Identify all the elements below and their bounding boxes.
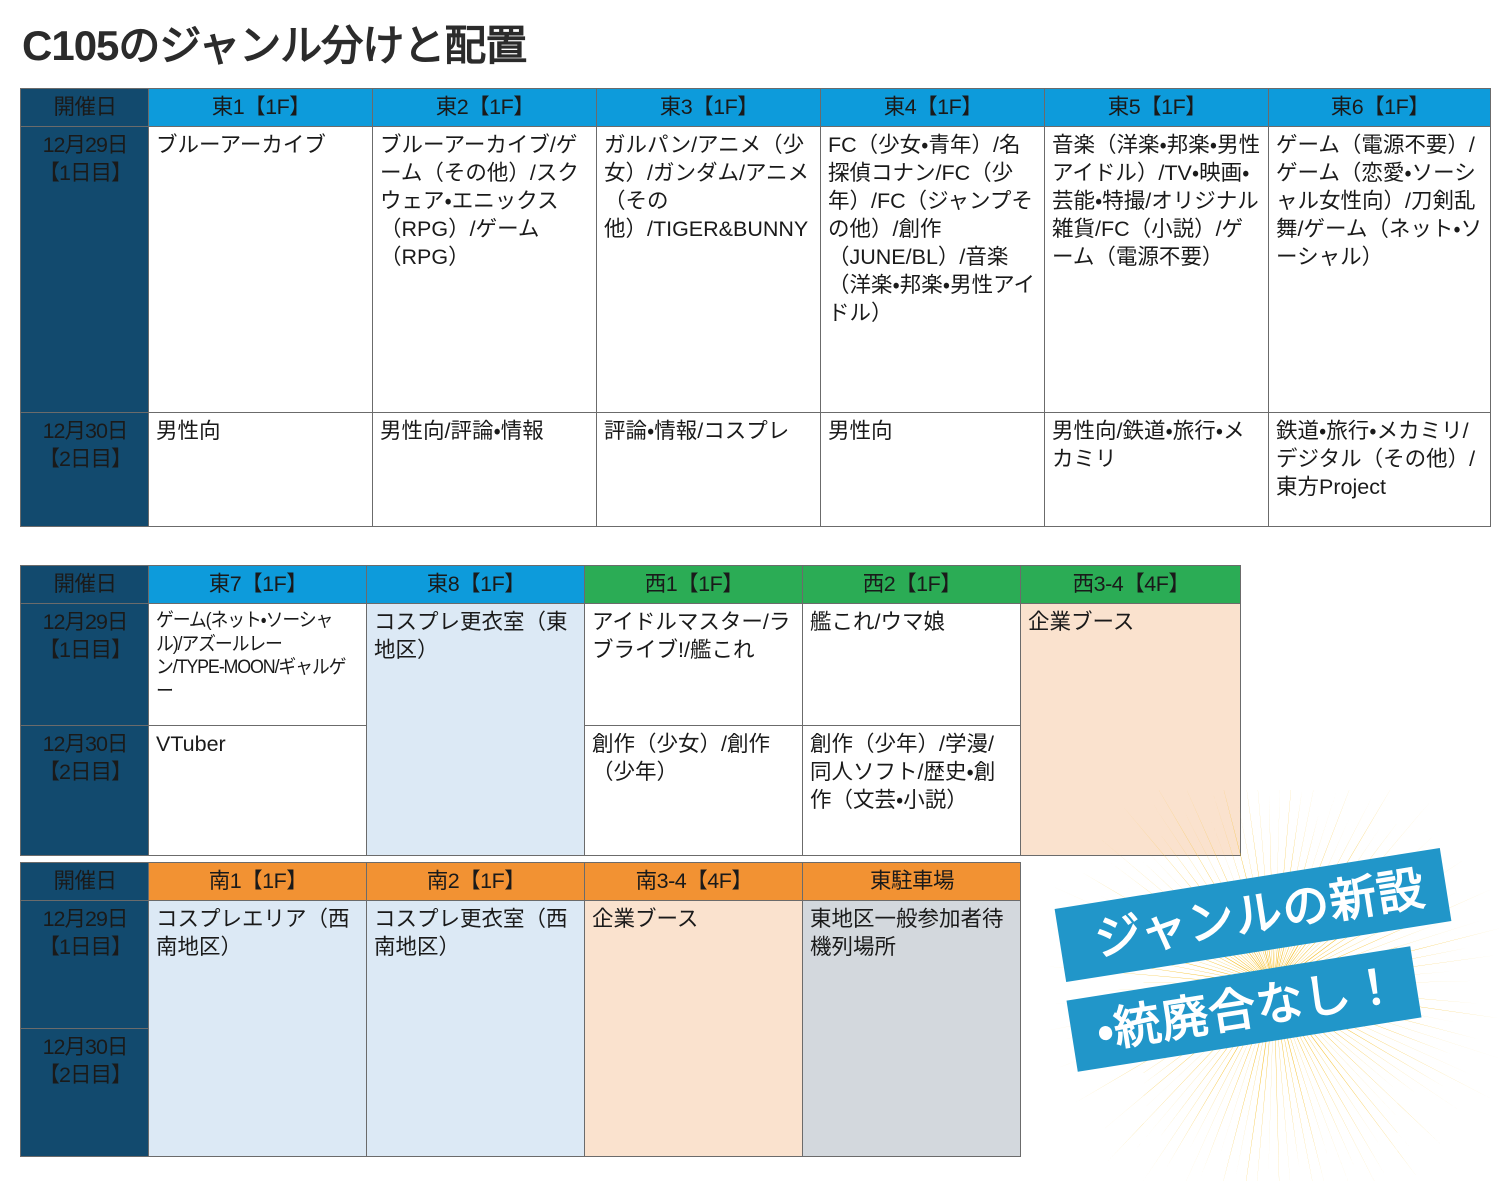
cell-east1-day2: 男性向 [149,413,373,527]
header-east-5: 東5【1F】 [1045,89,1269,127]
cell-west34-booth: 企業ブース [1021,604,1241,856]
date-line-1: 12月29日 [28,609,142,637]
cell-east7-day1-text: ゲーム(ネット・ソーシャル)/アズールレーン/TYPE-MOON/ギャルゲー [156,609,348,703]
table-east-1-6: 開催日 東1【1F】 東2【1F】 東3【1F】 東4【1F】 東5【1F】 東… [20,88,1491,527]
header-east-parking: 東駐車場 [803,863,1021,901]
cell-east4-day2: 男性向 [821,413,1045,527]
badge-line-1: ジャンルの新設 [1055,848,1452,982]
date-cell-day1: 12月29日 【1日目】 [21,127,149,413]
header-east-3: 東3【1F】 [597,89,821,127]
table-header-row: 開催日 東7【1F】 東8【1F】 西1【1F】 西2【1F】 西3-4【4F】 [21,566,1241,604]
header-west-3-4: 西3-4【4F】 [1021,566,1241,604]
cell-south1-cosplay-area: コスプレエリア（西南地区） [149,901,367,1157]
cell-west2-day1: 艦これ/ウマ娘 [803,604,1021,726]
cell-west1-day2: 創作（少女）/創作（少年） [585,726,803,856]
table-row: 12月29日 【1日目】 コスプレエリア（西南地区） コスプレ更衣室（西南地区）… [21,901,1021,1029]
header-east-6: 東6【1F】 [1269,89,1491,127]
table-east7-west: 開催日 東7【1F】 東8【1F】 西1【1F】 西2【1F】 西3-4【4F】… [20,565,1241,856]
cell-west2-day2: 創作（少年）/学漫/同人ソフト/歴史・創作（文芸・小説） [803,726,1021,856]
header-south-2: 南2【1F】 [367,863,585,901]
header-east-8: 東8【1F】 [367,566,585,604]
infographic-page: C105のジャンル分けと配置 開催日 東1【1F】 東2【1F】 東3【1F】 … [0,0,1500,1181]
header-south-3-4: 南3-4【4F】 [585,863,803,901]
date-line-2: 【1日目】 [28,934,142,962]
table-row: 12月29日 【1日目】 ゲーム(ネット・ソーシャル)/アズールレーン/TYPE… [21,604,1241,726]
date-line-2: 【1日目】 [28,637,142,665]
table-header-row: 開催日 東1【1F】 東2【1F】 東3【1F】 東4【1F】 東5【1F】 東… [21,89,1491,127]
cell-east3-day1: ガルパン/アニメ（少女）/ガンダム/アニメ（その他）/TIGER&BUNNY [597,127,821,413]
date-line-2: 【1日目】 [28,160,142,188]
date-line-1: 12月29日 [28,906,142,934]
cell-east7-day2: VTuber [149,726,367,856]
cell-east6-day2: 鉄道・旅行・メカミリ/デジタル（その他）/東方Project [1269,413,1491,527]
cell-east3-day2: 評論・情報/コスプレ [597,413,821,527]
cell-east5-day1: 音楽（洋楽・邦楽・男性アイドル）/TV・映画・芸能・特撮/オリジナル雑貨/FC（… [1045,127,1269,413]
header-east-7: 東7【1F】 [149,566,367,604]
cell-east6-day1: ゲーム（電源不要）/ゲーム（恋愛・ソーシャル女性向）/刀剣乱舞/ゲーム（ネット・… [1269,127,1491,413]
date-cell-day2: 12月30日 【2日目】 [21,413,149,527]
header-west-1: 西1【1F】 [585,566,803,604]
table-row: 12月29日 【1日目】 ブルーアーカイブ ブルーアーカイブ/ゲーム（その他）/… [21,127,1491,413]
header-date: 開催日 [21,89,149,127]
header-east-4: 東4【1F】 [821,89,1045,127]
cell-east5-day2: 男性向/鉄道・旅行・メカミリ [1045,413,1269,527]
cell-east1-day1: ブルーアーカイブ [149,127,373,413]
cell-south2-cosplay-room: コスプレ更衣室（西南地区） [367,901,585,1157]
date-line-2: 【2日目】 [28,446,142,474]
cell-east2-day2: 男性向/評論・情報 [373,413,597,527]
header-east-1: 東1【1F】 [149,89,373,127]
cell-east8-cosplay: コスプレ更衣室（東地区） [367,604,585,856]
date-line-1: 12月30日 [28,731,142,759]
cell-west1-day1: アイドルマスター/ラブライブ!/艦これ [585,604,803,726]
header-date: 開催日 [21,566,149,604]
date-line-2: 【2日目】 [28,1062,142,1090]
date-cell-day1: 12月29日 【1日目】 [21,901,149,1029]
cell-east7-day1: ゲーム(ネット・ソーシャル)/アズールレーン/TYPE-MOON/ギャルゲー [149,604,367,726]
date-line-1: 12月30日 [28,1034,142,1062]
date-line-2: 【2日目】 [28,759,142,787]
date-cell-day1: 12月29日 【1日目】 [21,604,149,726]
date-line-1: 12月30日 [28,418,142,446]
badge-line-2: ・統廃合なし！ [1067,946,1422,1072]
cell-south34-booth: 企業ブース [585,901,803,1157]
header-south-1: 南1【1F】 [149,863,367,901]
table-row: 12月30日 【2日目】 男性向 男性向/評論・情報 評論・情報/コスプレ 男性… [21,413,1491,527]
table-south: 開催日 南1【1F】 南2【1F】 南3-4【4F】 東駐車場 12月29日 【… [20,862,1021,1157]
date-cell-day2: 12月30日 【2日目】 [21,726,149,856]
header-east-2: 東2【1F】 [373,89,597,127]
cell-east-parking-queue: 東地区一般参加者待機列場所 [803,901,1021,1157]
cell-east2-day1: ブルーアーカイブ/ゲーム（その他）/スクウェア・エニックス（RPG）/ゲーム（R… [373,127,597,413]
header-west-2: 西2【1F】 [803,566,1021,604]
cell-east4-day1: FC（少女・青年）/名探偵コナン/FC（少年）/FC（ジャンプその他）/創作（J… [821,127,1045,413]
date-line-1: 12月29日 [28,132,142,160]
date-cell-day2: 12月30日 【2日目】 [21,1029,149,1157]
table-header-row: 開催日 南1【1F】 南2【1F】 南3-4【4F】 東駐車場 [21,863,1021,901]
header-date: 開催日 [21,863,149,901]
page-title: C105のジャンル分けと配置 [22,12,526,73]
